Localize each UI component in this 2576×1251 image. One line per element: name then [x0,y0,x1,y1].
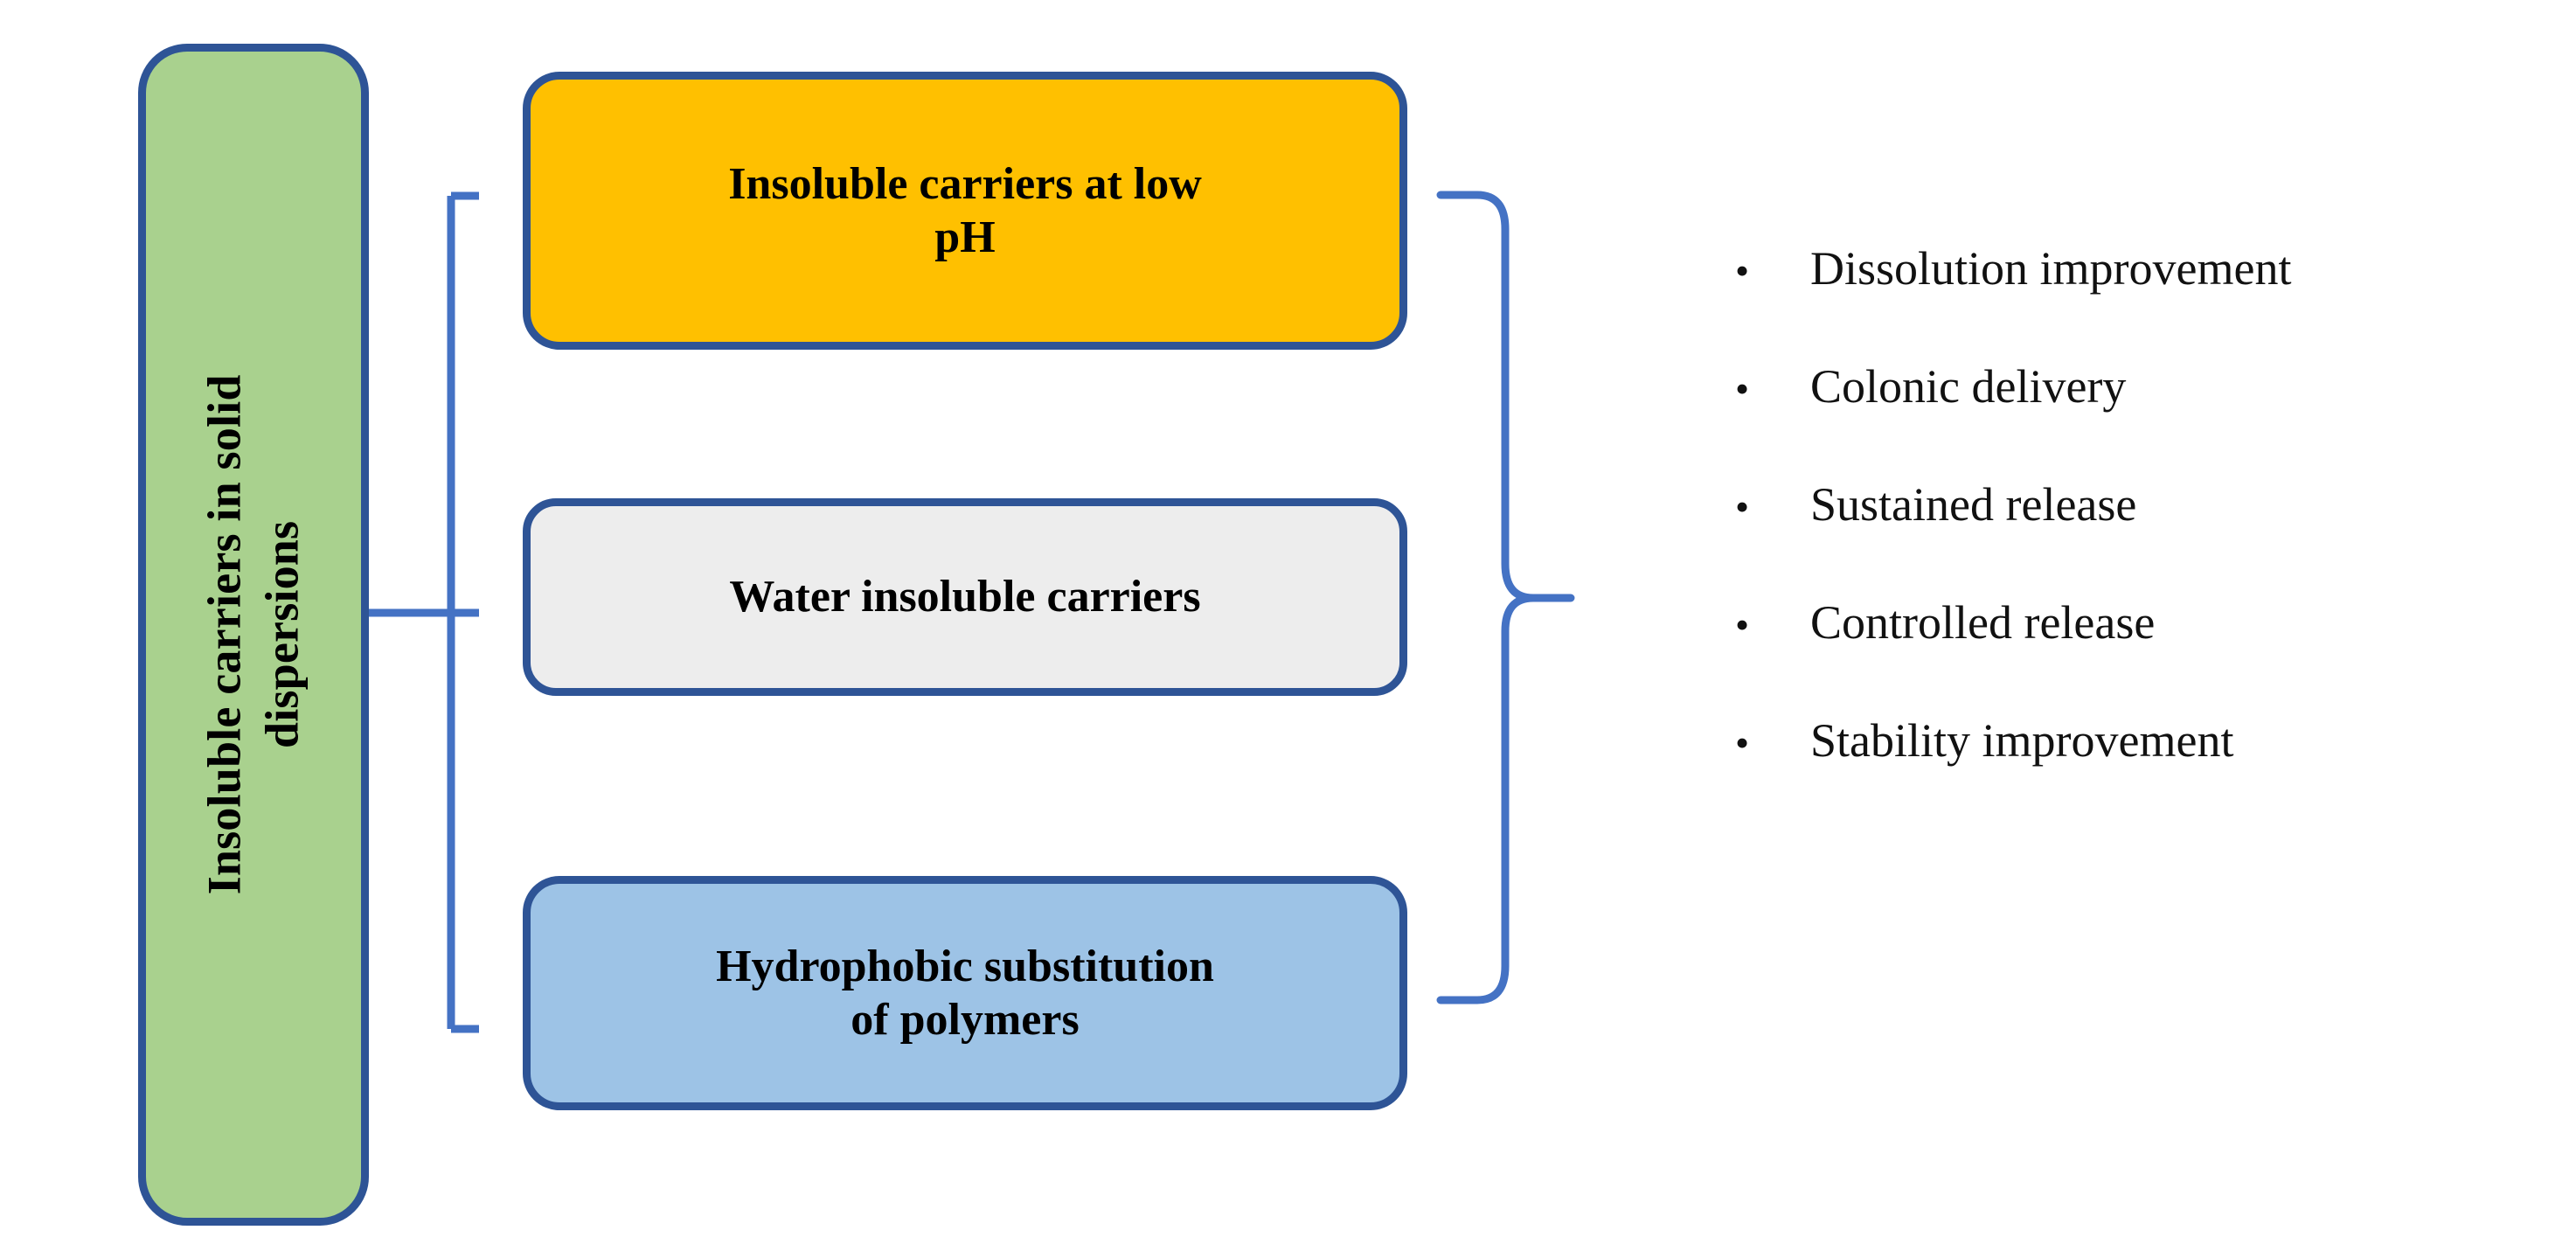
branch-node-label: Hydrophobic substitution of polymers [716,940,1214,1047]
list-item: • Colonic delivery [1735,359,2522,477]
branch-node-insoluble-carriers-low-ph[interactable]: Insoluble carriers at low pH [523,72,1407,350]
outcome-list: • Dissolution improvement • Colonic deli… [1735,241,2522,831]
bullet-icon: • [1735,369,1810,409]
branch-node-label: Insoluble carriers at low pH [728,157,1202,265]
branch-node-water-insoluble-carriers[interactable]: Water insoluble carriers [523,498,1407,696]
bullet-icon: • [1735,251,1810,291]
right-curly-brace [1441,195,1571,1000]
list-item: • Stability improvement [1735,713,2522,831]
branch-node-label-line1: Water insoluble carriers [729,570,1200,623]
bullet-icon: • [1735,723,1810,763]
right-brace-upper-half [1441,195,1571,598]
outcome-label: Sustained release [1810,477,2136,532]
root-node-label-line2: dispersions [253,375,311,895]
branch-node-label: Water insoluble carriers [729,570,1200,623]
outcome-label: Dissolution improvement [1810,241,2291,295]
root-node-insoluble-carriers[interactable]: Insoluble carriers in solid dispersions [138,44,369,1226]
root-node-label: Insoluble carriers in solid dispersions [196,375,311,895]
bullet-icon: • [1735,487,1810,527]
list-item: • Sustained release [1735,477,2522,595]
right-brace-lower-half [1441,598,1533,1000]
branch-node-label-line1: Hydrophobic substitution [716,940,1214,993]
diagram-root: Insoluble carriers in solid dispersions … [0,0,2576,1251]
list-item: • Controlled release [1735,595,2522,713]
left-bracket [369,196,479,1029]
branch-node-label-line1: Insoluble carriers at low [728,157,1202,211]
branch-node-label-line2: pH [728,211,1202,264]
list-item: • Dissolution improvement [1735,241,2522,359]
outcome-label: Stability improvement [1810,713,2233,768]
branch-node-label-line2: of polymers [716,993,1214,1046]
bullet-icon: • [1735,605,1810,645]
branch-node-hydrophobic-substitution[interactable]: Hydrophobic substitution of polymers [523,876,1407,1110]
outcome-label: Controlled release [1810,595,2155,650]
outcome-label: Colonic delivery [1810,359,2126,414]
root-node-label-line1: Insoluble carriers in solid [196,375,253,895]
